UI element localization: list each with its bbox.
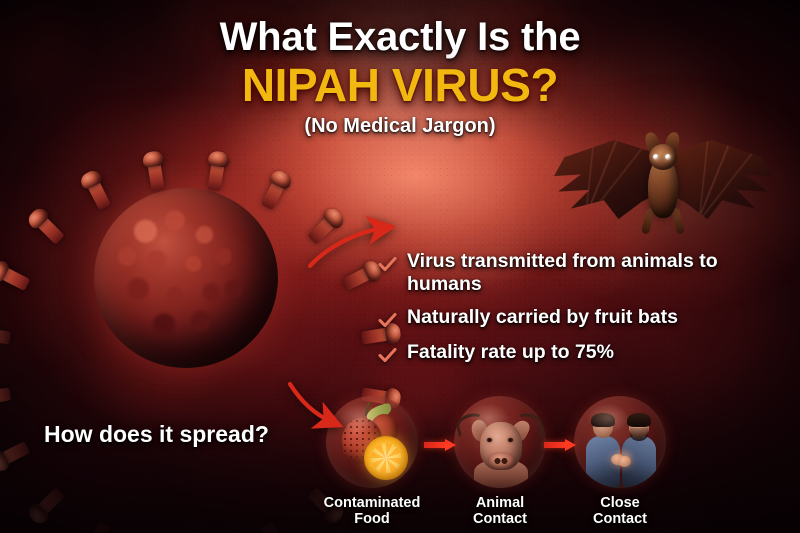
poster-subtitle: (No Medical Jargon) xyxy=(0,115,800,138)
arrow-animal-to-close xyxy=(544,439,578,450)
step-label-line2: Contact xyxy=(473,511,527,527)
transmission-chain: Contaminated Food Animal Contact xyxy=(322,396,692,533)
poster-heading-group: What Exactly Is the NIPAH VIRUS? (No Med… xyxy=(0,16,800,138)
spread-question: How does it spread? xyxy=(44,421,269,448)
arrow-food-to-animal xyxy=(424,439,458,450)
virus-capsid xyxy=(94,188,278,368)
step-label-close: Close Contact xyxy=(570,495,670,527)
list-item: Naturally carried by fruit bats xyxy=(378,306,786,330)
check-icon xyxy=(378,311,397,330)
step-label-animal: Animal Contact xyxy=(450,495,550,527)
transmission-step-food: Contaminated Food xyxy=(322,396,422,527)
transmission-step-close: Close Contact xyxy=(570,396,670,527)
nipah-virus-infographic: What Exactly Is the NIPAH VIRUS? (No Med… xyxy=(0,0,800,533)
fact-text: Virus transmitted from animals to humans xyxy=(407,250,786,295)
title-line-1: What Exactly Is the xyxy=(0,16,800,58)
step-label-line1: Close xyxy=(600,495,640,511)
bat-eye-left xyxy=(653,154,659,160)
virus-surface-texture xyxy=(94,188,278,368)
step-label-food: Contaminated Food xyxy=(322,495,422,527)
facts-list: Virus transmitted from animals to humans… xyxy=(378,250,786,376)
step-label-line2: Contact xyxy=(593,511,647,527)
title-line-2: NIPAH VIRUS? xyxy=(0,62,800,108)
two-people-icon xyxy=(574,396,666,488)
virus-particle-illustration xyxy=(36,132,336,422)
step-label-line1: Animal xyxy=(476,495,524,511)
fruit-icon xyxy=(326,396,418,488)
step-label-line1: Contaminated xyxy=(324,495,421,511)
fact-text: Naturally carried by fruit bats xyxy=(407,306,678,329)
check-icon xyxy=(378,255,397,274)
step-label-line2: Food xyxy=(354,511,389,527)
list-item: Virus transmitted from animals to humans xyxy=(378,250,786,295)
check-icon xyxy=(378,346,397,365)
bat-eye-right xyxy=(665,154,671,160)
transmission-step-animal: Animal Contact xyxy=(450,396,550,527)
list-item: Fatality rate up to 75% xyxy=(378,341,786,365)
pig-icon xyxy=(454,396,546,488)
fact-text: Fatality rate up to 75% xyxy=(407,341,614,364)
